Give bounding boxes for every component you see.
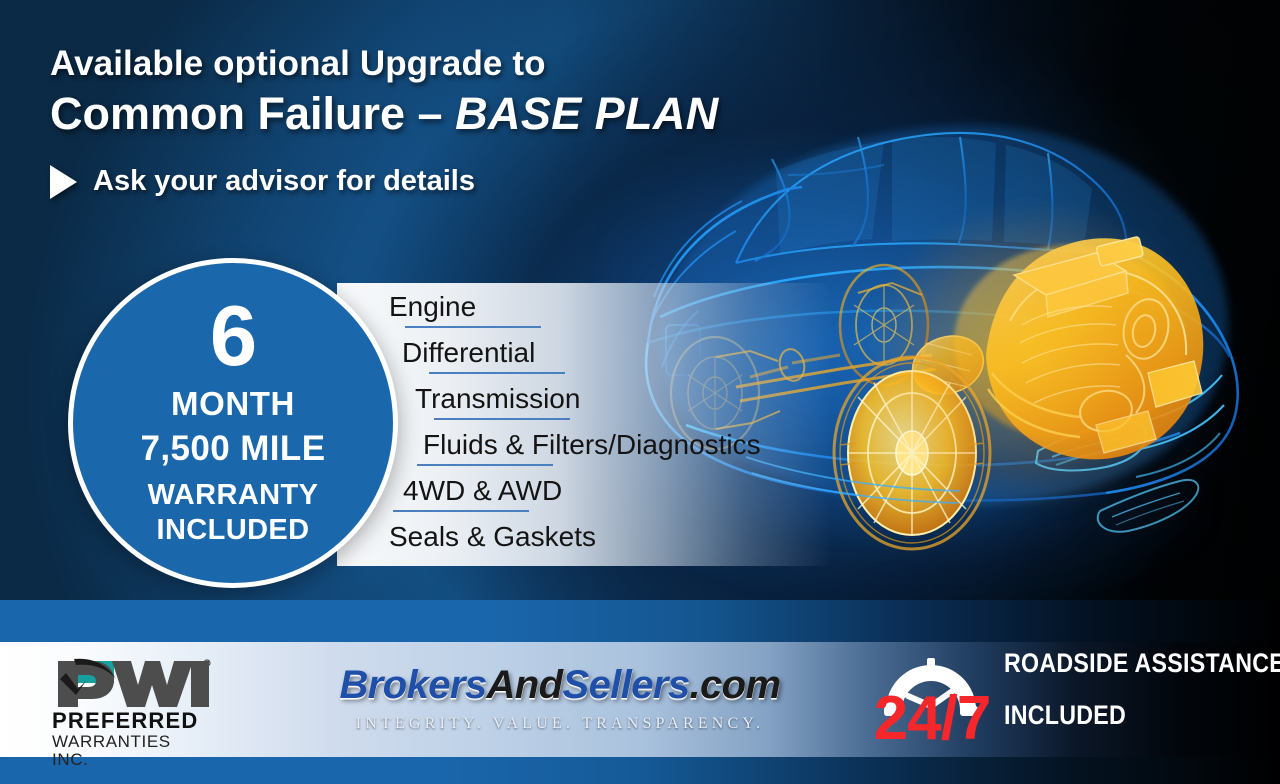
warranty-badge: 6 MONTH 7,500 MILE WARRANTY INCLUDED [68,258,398,588]
coverage-label: Fluids & Filters/Diagnostics [423,428,761,462]
coverage-label: Transmission [415,382,580,416]
headline-line-2-prefix: Common Failure – [50,88,455,139]
cta-row[interactable]: Ask your advisor for details [50,165,830,199]
cta-label: Ask your advisor for details [93,165,475,198]
coverage-list: Engine Differential Transmission Fluids … [337,283,857,566]
play-triangle-icon [50,165,77,199]
coverage-divider [417,464,553,466]
badge-warranty-line-1: WARRANTY [148,479,319,511]
pwi-line-1: PREFERRED [52,709,212,732]
badge-term-unit: MONTH [171,387,295,420]
coverage-label: Differential [402,336,535,370]
badge-mileage: 7,500 MILE [141,431,326,466]
pwi-logo: PREFERRED WARRANTIES INC. [52,655,212,769]
brokers-and-sellers-logo: BrokersAndSellers.com INTEGRITY. VALUE. … [310,665,810,733]
list-item: Fluids & Filters/Diagnostics [337,428,857,474]
coverage-divider [429,372,565,374]
roadside-text: ROADSIDE ASSISTANCE INCLUDED [1004,636,1280,729]
brokers-wordmark: BrokersAndSellers.com [310,665,810,705]
pwi-wordmark-icon [52,655,212,707]
wordmark-part-and: And [487,663,563,707]
coverage-divider [405,326,541,328]
hours-label: 24/7 [868,688,996,750]
coverage-divider [393,510,529,512]
advertisement-banner: Available optional Upgrade to Common Fai… [0,0,1280,784]
wordmark-part-sellers: Sellers [562,663,689,707]
list-item: Seals & Gaskets [337,520,857,566]
brokers-tagline: INTEGRITY. VALUE. TRANSPARENCY. [310,715,810,733]
wordmark-part-com: .com [690,663,781,707]
badge-warranty-line-2: INCLUDED [156,514,309,546]
headline-line-1: Available optional Upgrade to [50,44,830,83]
list-item: Engine [337,290,857,336]
roadside-line-2: INCLUDED [1004,702,1280,729]
clock-icon-wrap: 24/7 [872,636,990,754]
list-item: Transmission [337,382,857,428]
wordmark-part-brokers: Brokers [340,663,487,707]
coverage-divider [434,418,570,420]
pwi-line-2: WARRANTIES INC. [52,733,212,769]
headline-line-2: Common Failure – BASE PLAN [50,89,830,139]
roadside-assistance-block: 24/7 ROADSIDE ASSISTANCE INCLUDED [872,636,1280,754]
list-item: Differential [337,336,857,382]
headline-plan-name: BASE PLAN [455,88,719,139]
coverage-label: Engine [389,290,476,324]
coverage-label: 4WD & AWD [403,474,562,508]
list-item: 4WD & AWD [337,474,857,520]
badge-term-number: 6 [210,300,256,373]
roadside-line-1: ROADSIDE ASSISTANCE [1004,650,1280,677]
headline-block: Available optional Upgrade to Common Fai… [50,44,830,199]
engine-glow [870,205,1200,505]
coverage-label: Seals & Gaskets [389,520,596,554]
